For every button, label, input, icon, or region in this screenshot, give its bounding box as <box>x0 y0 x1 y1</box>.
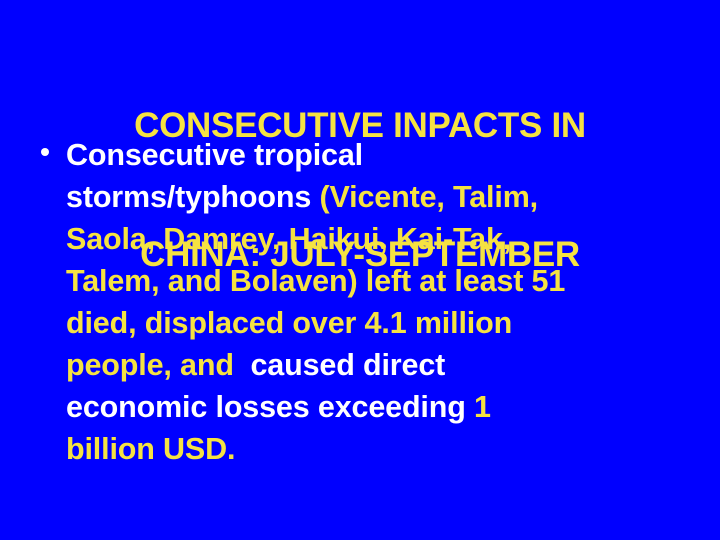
bullet-dot-icon <box>41 148 49 156</box>
bullet-item-text: Consecutive tropical storms/typhoons (Vi… <box>66 134 696 470</box>
body-line-3-segment-1: Saola, Damrey, Haikui, Kai-Tak, <box>66 222 511 256</box>
slide-body: Consecutive tropical storms/typhoons (Vi… <box>36 134 696 470</box>
body-line-2-segment-2: (Vicente, Talim, <box>319 180 538 214</box>
body-line-4: Talem, and Bolaven) left at least 51 <box>66 260 696 302</box>
body-line-6: people, and caused direct <box>66 344 696 386</box>
body-line-6-segment-2: caused direct <box>242 348 445 382</box>
body-line-5-segment-1: died, displaced over 4.1 million <box>66 306 512 340</box>
body-line-2: storms/typhoons (Vicente, Talim, <box>66 176 696 218</box>
body-line-3: Saola, Damrey, Haikui, Kai-Tak, <box>66 218 696 260</box>
body-line-8: billion USD. <box>66 428 696 470</box>
bullet-list-item: Consecutive tropical storms/typhoons (Vi… <box>36 134 696 470</box>
body-line-7-segment-2: 1 <box>474 390 491 424</box>
body-line-2-segment-1: storms/typhoons <box>66 180 319 214</box>
body-line-6-segment-1: people, and <box>66 348 242 382</box>
body-line-1: Consecutive tropical <box>66 134 696 176</box>
body-line-5: died, displaced over 4.1 million <box>66 302 696 344</box>
body-line-7: economic losses exceeding 1 <box>66 386 696 428</box>
presentation-slide: CONSECUTIVE INPACTS IN CHINA: JULY-SEPTE… <box>0 0 720 540</box>
body-line-1-segment-1: Consecutive tropical <box>66 138 363 172</box>
body-line-7-segment-1: economic losses exceeding <box>66 390 474 424</box>
body-line-8-segment-1: billion USD. <box>66 432 235 466</box>
body-line-4-segment-1: Talem, and Bolaven) left at least 51 <box>66 264 565 298</box>
